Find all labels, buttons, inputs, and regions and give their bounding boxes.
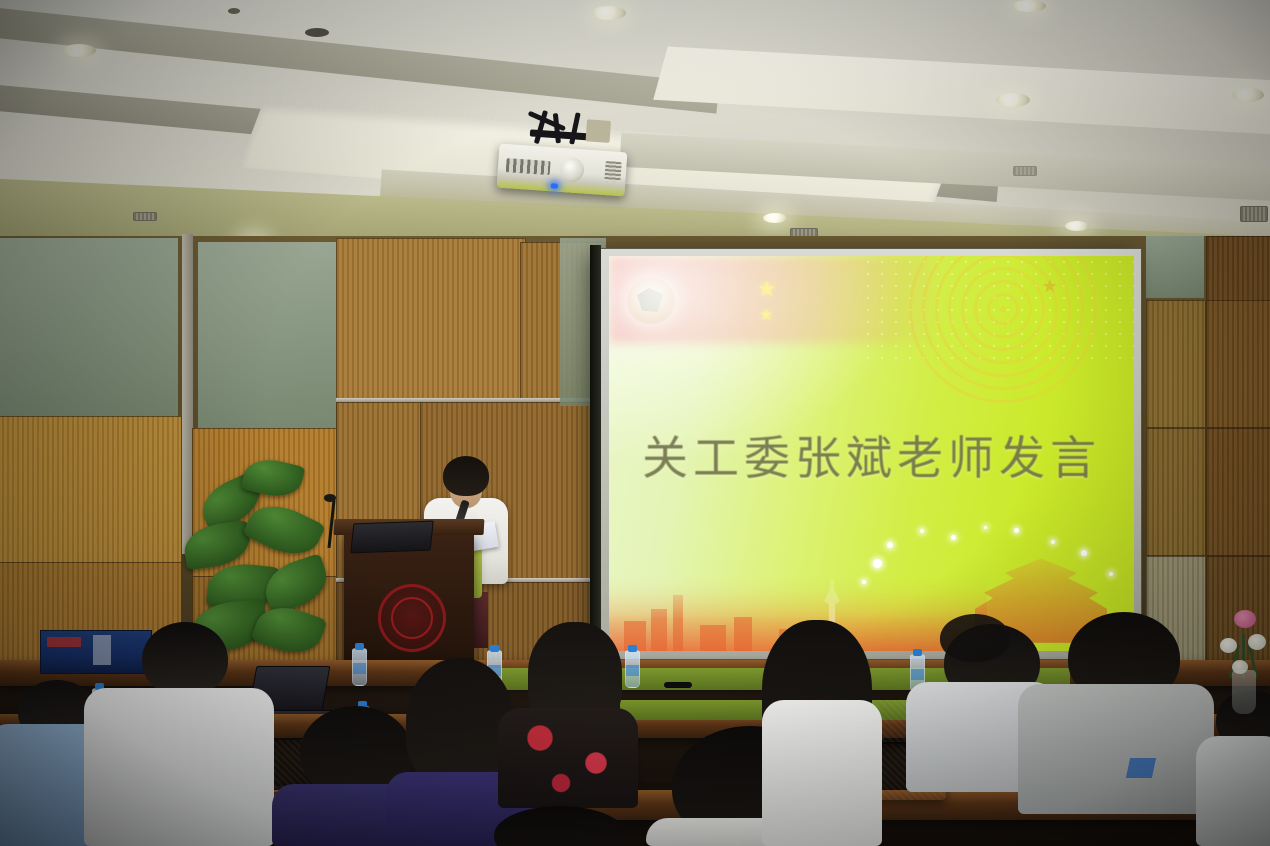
slide-sparkle	[1051, 540, 1055, 544]
audience-torso	[84, 688, 274, 846]
cardboard-box	[40, 630, 152, 674]
flower-arrangement	[1218, 604, 1270, 714]
tshirt-logo	[1126, 758, 1156, 778]
bottle-label	[626, 665, 639, 676]
glass-panel-left-2	[198, 242, 336, 436]
bottle-label	[353, 663, 366, 674]
projector-ports	[506, 158, 551, 175]
lecture-hall-photo: ★ ★ ★ 关工委张斌老师发言	[0, 0, 1270, 846]
water-bottle	[352, 648, 367, 686]
downlight-2	[228, 8, 240, 14]
wall-panel-right-5	[1206, 428, 1270, 556]
slide-sparkle	[1109, 572, 1113, 576]
slide-sparkle	[1014, 528, 1019, 533]
slide-sparkle	[873, 559, 882, 568]
projector-vent	[604, 161, 621, 182]
plant-leaf	[181, 520, 252, 571]
slide-title: 关工委张斌老师发言	[609, 422, 1134, 488]
bottle-cap	[355, 643, 364, 650]
audience-torso	[1018, 684, 1214, 814]
desk-pen	[664, 682, 692, 688]
projection-screen-frame: ★ ★ ★ 关工委张斌老师发言	[600, 248, 1142, 660]
slide-ring-star-icon: ★	[1042, 276, 1058, 297]
downlight-11	[1065, 221, 1089, 231]
skyline-building	[700, 625, 726, 651]
bottle-label	[911, 669, 924, 680]
flower-vase	[1232, 670, 1256, 714]
bottle-cap	[490, 645, 499, 652]
audience-torso	[1196, 736, 1270, 846]
slide-sparkle	[951, 535, 956, 540]
slide-sparkle	[1081, 550, 1087, 556]
flower-bloom-white	[1248, 634, 1266, 650]
audience-torso	[498, 708, 638, 808]
glass-panel-right	[1146, 236, 1204, 298]
air-vent-4	[1240, 206, 1268, 222]
slide-sparkle	[984, 526, 987, 529]
ceiling	[0, 0, 1270, 258]
wall-panel-right-2	[1206, 236, 1270, 302]
slide-ring-decoration	[903, 256, 1103, 409]
water-bottle	[625, 650, 640, 688]
gooseneck-mic-head	[324, 494, 336, 502]
audience-head	[940, 614, 1010, 662]
projector-lens	[559, 157, 585, 183]
downlight-6	[1232, 88, 1264, 102]
skyline-building	[673, 595, 683, 651]
slide-sparkle	[887, 542, 893, 548]
downlight-10	[763, 213, 787, 223]
air-vent-5	[1013, 166, 1037, 176]
downlight-3	[305, 28, 329, 37]
projection-screen: ★ ★ ★ 关工委张斌老师发言	[609, 256, 1134, 651]
flower-bloom-pink	[1234, 610, 1256, 628]
wall-panel-right-3	[1206, 300, 1270, 428]
projector-power-led	[551, 183, 558, 188]
flower-bloom-white	[1220, 638, 1237, 653]
plant-leaf	[259, 553, 333, 615]
university-seal-emblem	[378, 584, 446, 652]
slide-sparkle	[920, 529, 924, 533]
downlight-1	[62, 44, 96, 57]
glass-panel-left-1	[0, 238, 178, 424]
wall-panel-right-1	[1146, 300, 1206, 428]
wall-panel-right-4	[1146, 428, 1206, 556]
bottle-cap	[913, 649, 922, 656]
bottle-cap	[628, 645, 637, 652]
speaker-hair	[443, 456, 489, 496]
presenter-laptop	[350, 521, 434, 554]
wall-panel-left-1	[0, 416, 182, 566]
downlight-5	[996, 93, 1030, 107]
downlight-7	[1012, 0, 1046, 12]
projector	[497, 144, 628, 197]
ceiling-coffer-upper	[653, 46, 1270, 135]
wall-panel-center-upper	[336, 238, 526, 402]
audience-head	[142, 622, 228, 696]
air-vent-1	[133, 212, 157, 221]
downlight-4	[592, 6, 626, 20]
audience-torso	[762, 700, 882, 846]
skyline-building	[734, 617, 752, 651]
skyline-building	[651, 609, 667, 651]
